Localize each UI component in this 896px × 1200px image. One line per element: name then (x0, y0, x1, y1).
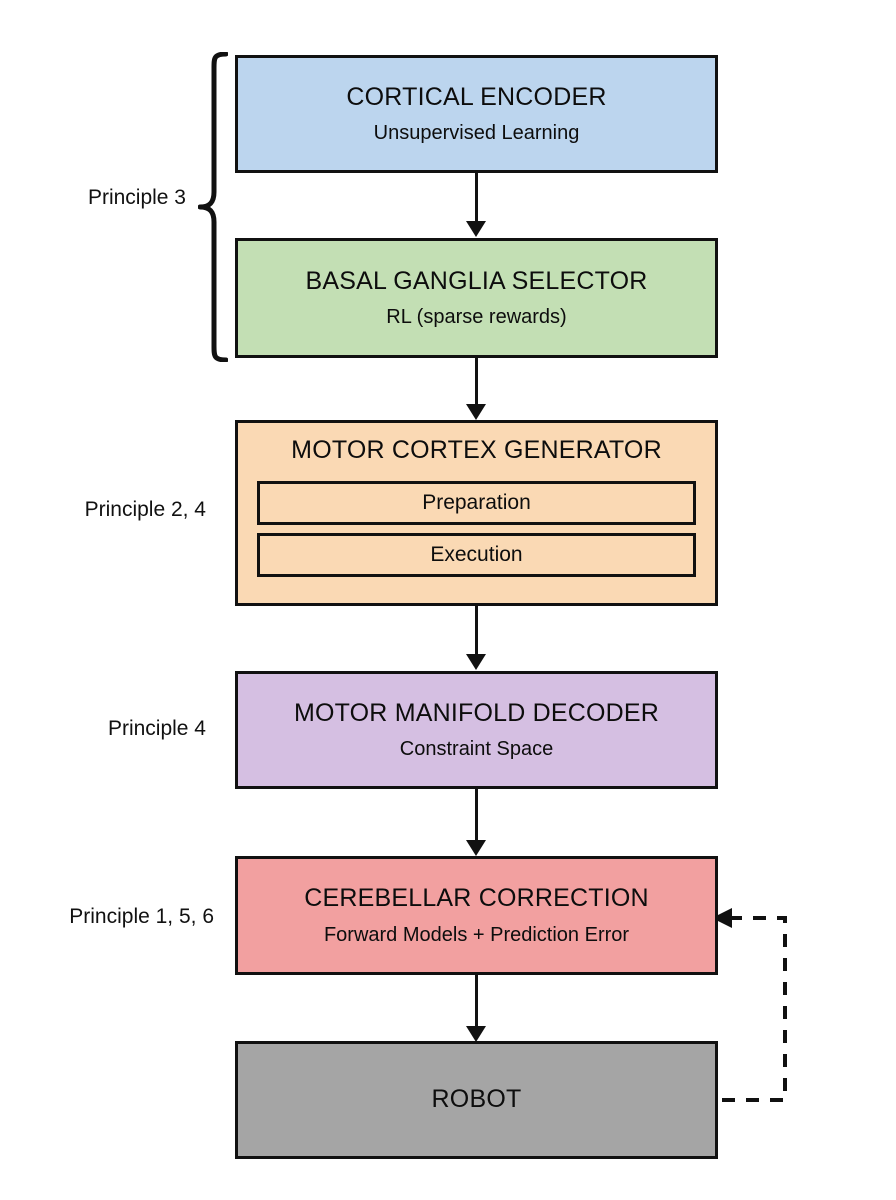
edge-cerebellar-to-robot-arrowhead (466, 1026, 486, 1042)
node-subtitle: RL (sparse rewards) (386, 306, 566, 328)
edge-motor-to-manifold-arrowhead (466, 654, 486, 670)
node-title: CORTICAL ENCODER (346, 84, 606, 112)
node-title: MOTOR MANIFOLD DECODER (294, 700, 659, 728)
node-robot[interactable]: ROBOT (235, 1041, 718, 1159)
annotation-principle-4: Principle 4 (0, 717, 206, 741)
node-motor-manifold-decoder[interactable]: MOTOR MANIFOLD DECODER Constraint Space (235, 671, 718, 789)
edge-encoder-to-ganglia-arrowhead (466, 221, 486, 237)
node-motor-cortex-generator[interactable]: MOTOR CORTEX GENERATOR Preparation Execu… (235, 420, 718, 606)
annotation-principle-3: Principle 3 (0, 186, 186, 210)
node-cortical-encoder[interactable]: CORTICAL ENCODER Unsupervised Learning (235, 55, 718, 173)
diagram-canvas: CORTICAL ENCODER Unsupervised Learning B… (0, 0, 896, 1200)
edge-cerebellar-to-robot-line (475, 975, 478, 1028)
edge-ganglia-to-motor-arrowhead (466, 404, 486, 420)
annotation-principle-1-5-6: Principle 1, 5, 6 (0, 905, 214, 929)
annotation-principle-2-4: Principle 2, 4 (0, 498, 206, 522)
node-cerebellar-correction[interactable]: CEREBELLAR CORRECTION Forward Models + P… (235, 856, 718, 975)
node-title: MOTOR CORTEX GENERATOR (291, 437, 662, 465)
node-subtitle: Unsupervised Learning (374, 122, 580, 144)
edge-motor-to-manifold-line (475, 606, 478, 656)
edge-ganglia-to-motor-line (475, 358, 478, 406)
node-basal-ganglia-selector[interactable]: BASAL GANGLIA SELECTOR RL (sparse reward… (235, 238, 718, 358)
edge-manifold-to-cerebellar-line (475, 789, 478, 842)
subnode-label: Preparation (422, 491, 531, 515)
node-subtitle: Forward Models + Prediction Error (324, 924, 629, 946)
principle-3-brace (198, 52, 228, 362)
node-subtitle: Constraint Space (400, 738, 553, 760)
subnode-preparation[interactable]: Preparation (257, 481, 696, 525)
node-title: CEREBELLAR CORRECTION (304, 885, 649, 913)
subnode-execution[interactable]: Execution (257, 533, 696, 577)
robot-feedback-dashed-path (710, 900, 890, 1120)
node-title: ROBOT (432, 1086, 522, 1114)
edge-encoder-to-ganglia-line (475, 173, 478, 223)
node-title: BASAL GANGLIA SELECTOR (305, 268, 647, 296)
subnode-label: Execution (430, 543, 522, 567)
edge-manifold-to-cerebellar-arrowhead (466, 840, 486, 856)
